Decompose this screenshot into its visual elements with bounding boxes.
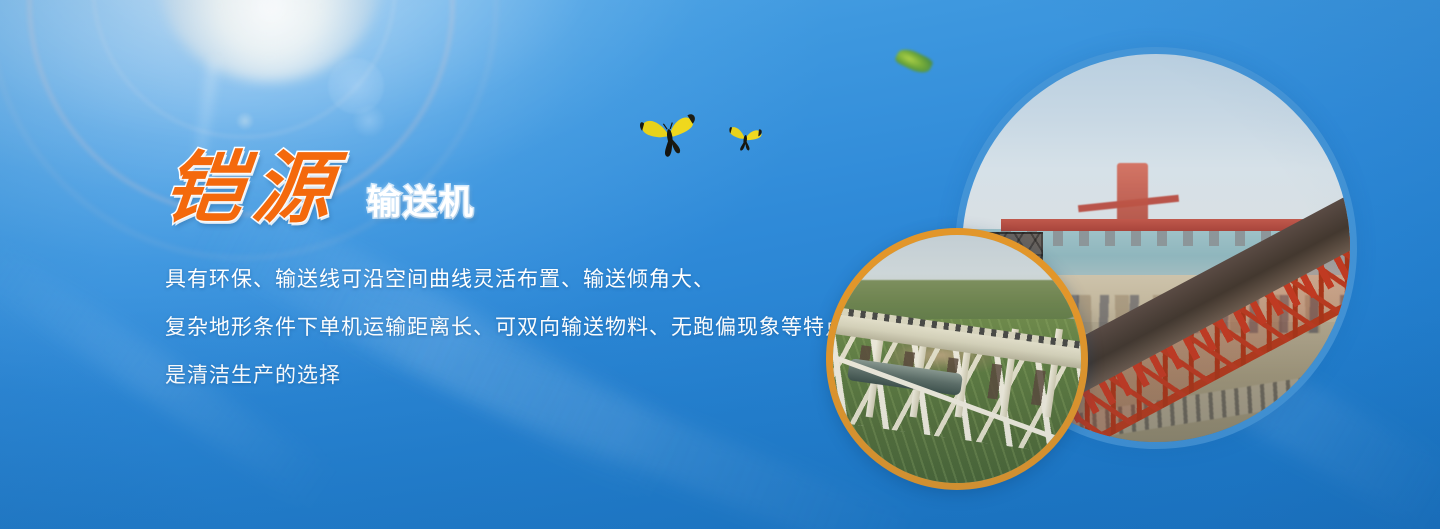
product-name: 输送机 <box>367 186 475 220</box>
flare-bokeh-2 <box>352 104 386 138</box>
flare-bokeh-3 <box>236 112 254 130</box>
flare-bokeh-1 <box>328 58 384 114</box>
leaf-icon <box>894 45 934 77</box>
sun-glow <box>160 0 380 82</box>
butterfly-large-icon <box>637 106 703 164</box>
butterfly-small-icon <box>727 122 764 153</box>
photo-truss-conveyor-image <box>833 235 1081 483</box>
product-banner: 铠源 输送机 具有环保、输送线可沿空间曲线灵活布置、输送倾角大、 复杂地形条件下… <box>0 0 1440 529</box>
photo-truss-conveyor <box>826 228 1088 490</box>
banner-headline: 铠源 输送机 <box>165 150 475 228</box>
brand-name: 铠源 <box>161 150 345 228</box>
